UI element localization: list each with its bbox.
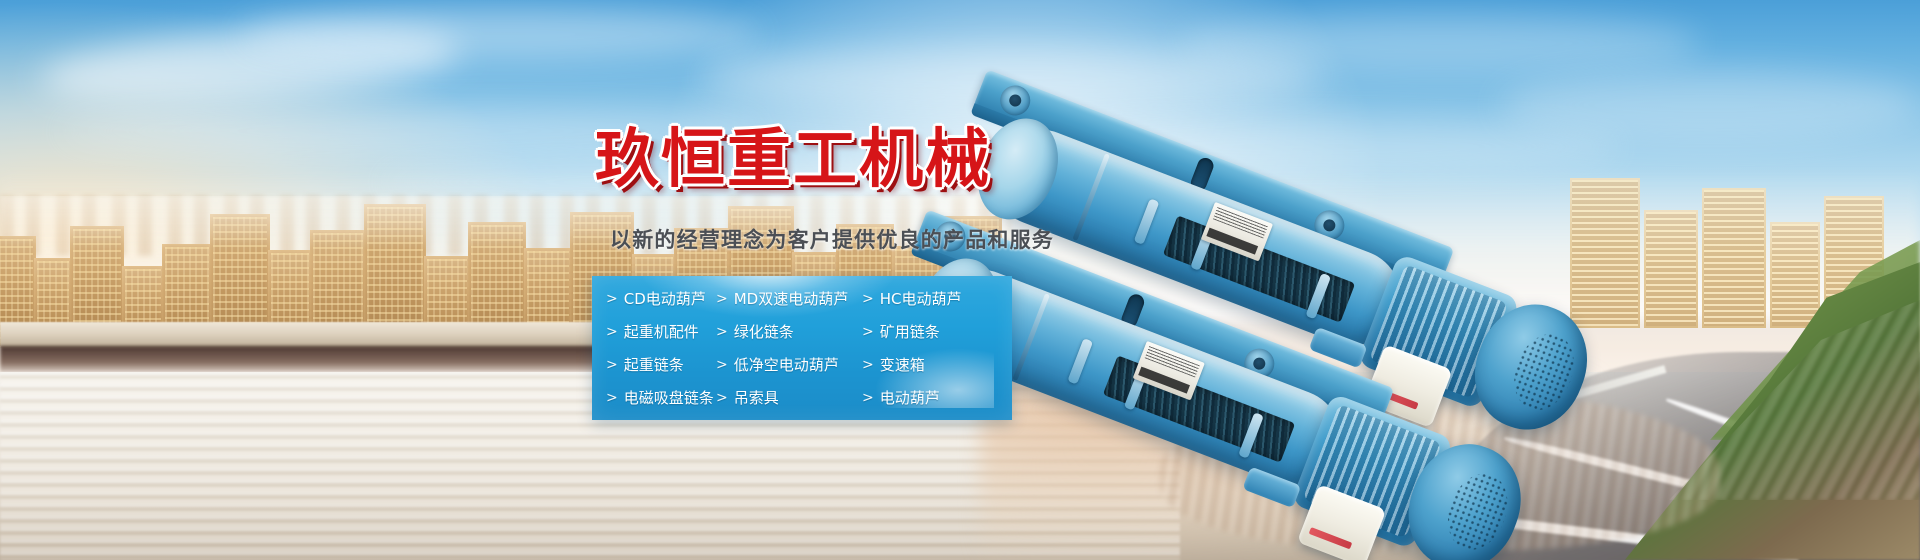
product-link-label: CD电动葫芦 bbox=[624, 288, 706, 309]
chevron-right-icon: > bbox=[862, 357, 874, 373]
chevron-right-icon: > bbox=[606, 291, 618, 307]
chevron-right-icon: > bbox=[606, 390, 618, 406]
product-link-label: 起重链条 bbox=[624, 354, 684, 375]
chevron-right-icon: > bbox=[862, 390, 874, 406]
chevron-right-icon: > bbox=[716, 390, 728, 406]
motor-vent-mesh bbox=[1438, 465, 1518, 558]
product-link-label: 电磁吸盘链条 bbox=[624, 387, 714, 408]
product-link[interactable]: >HC电动葫芦 bbox=[862, 288, 1012, 309]
hero-banner: 玖恒重工机械 以新的经营理念为客户提供优良的产品和服务 >CD电动葫芦>MD双速… bbox=[0, 0, 1920, 560]
product-link-label: 矿用链条 bbox=[880, 321, 940, 342]
product-link[interactable]: >变速箱 bbox=[862, 354, 1012, 375]
product-links-panel: >CD电动葫芦>MD双速电动葫芦>HC电动葫芦>起重机配件>绿化链条>矿用链条>… bbox=[592, 276, 1012, 420]
product-link-label: 电动葫芦 bbox=[880, 387, 940, 408]
page-title: 玖恒重工机械 bbox=[595, 128, 991, 192]
product-link-label: MD双速电动葫芦 bbox=[734, 288, 849, 309]
product-link[interactable]: >电磁吸盘链条 bbox=[606, 387, 716, 408]
product-link-label: 吊索具 bbox=[734, 387, 779, 408]
product-link[interactable]: >CD电动葫芦 bbox=[606, 288, 716, 309]
product-link-label: 绿化链条 bbox=[734, 321, 794, 342]
motor-vent-mesh bbox=[1504, 326, 1584, 419]
product-link-label: 低净空电动葫芦 bbox=[734, 354, 839, 375]
product-link-label: 起重机配件 bbox=[624, 321, 699, 342]
chevron-right-icon: > bbox=[606, 357, 618, 373]
product-link[interactable]: >绿化链条 bbox=[716, 321, 862, 342]
chevron-right-icon: > bbox=[716, 357, 728, 373]
product-links-grid: >CD电动葫芦>MD双速电动葫芦>HC电动葫芦>起重机配件>绿化链条>矿用链条>… bbox=[592, 276, 1012, 420]
product-link[interactable]: >MD双速电动葫芦 bbox=[716, 288, 862, 309]
chevron-right-icon: > bbox=[716, 291, 728, 307]
chevron-right-icon: > bbox=[862, 324, 874, 340]
product-link[interactable]: >起重链条 bbox=[606, 354, 716, 375]
product-link-label: 变速箱 bbox=[880, 354, 925, 375]
product-link[interactable]: >矿用链条 bbox=[862, 321, 1012, 342]
product-link[interactable]: >起重机配件 bbox=[606, 321, 716, 342]
chevron-right-icon: > bbox=[606, 324, 618, 340]
product-link[interactable]: >吊索具 bbox=[716, 387, 862, 408]
product-link[interactable]: >电动葫芦 bbox=[862, 387, 1012, 408]
chevron-right-icon: > bbox=[716, 324, 728, 340]
product-link-label: HC电动葫芦 bbox=[880, 288, 962, 309]
page-subtitle: 以新的经营理念为客户提供优良的产品和服务 bbox=[610, 224, 1054, 254]
chevron-right-icon: > bbox=[862, 291, 874, 307]
product-link[interactable]: >低净空电动葫芦 bbox=[716, 354, 862, 375]
